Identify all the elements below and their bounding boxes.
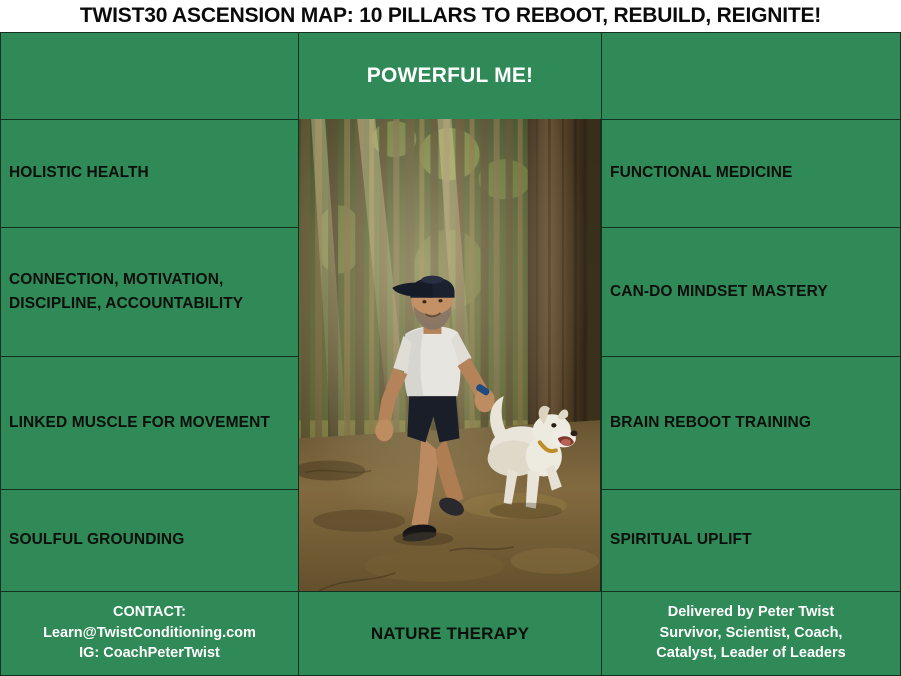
pillar-label-right-1: FUNCTIONAL MEDICINE <box>610 161 792 185</box>
contact-cell[interactable]: CONTACT: Learn@TwistConditioning.com IG:… <box>0 591 298 676</box>
pillar-wrap: FUNCTIONAL MEDICINE <box>602 120 900 227</box>
contact-heading: CONTACT: <box>113 603 186 623</box>
pillar-wrap: CAN-DO MINDSET MASTERY <box>602 228 900 356</box>
pillar-label-right-2: CAN-DO MINDSET MASTERY <box>610 280 828 304</box>
forest-trail-runner-with-dog-photo <box>298 119 601 591</box>
pillar-label-left-1: HOLISTIC HEALTH <box>9 161 149 185</box>
poster-title-bar: TWIST30 ASCENSION MAP: 10 PILLARS TO REB… <box>0 0 901 32</box>
pillar-cell-brain-reboot[interactable]: BRAIN REBOOT TRAINING <box>601 356 901 489</box>
pillar-label-left-3: LINKED MUSCLE FOR MOVEMENT <box>9 411 270 435</box>
page-title: TWIST30 ASCENSION MAP: 10 PILLARS TO REB… <box>80 4 821 28</box>
contact-instagram[interactable]: IG: CoachPeterTwist <box>79 644 220 664</box>
pillar-cell-linked-muscle[interactable]: LINKED MUSCLE FOR MOVEMENT <box>0 356 298 489</box>
pillar-label-right-4: SPIRITUAL UPLIFT <box>610 528 752 552</box>
contact-block: CONTACT: Learn@TwistConditioning.com IG:… <box>1 592 298 675</box>
center-footer-cell: NATURE THERAPY <box>298 591 601 676</box>
pillar-cell-holistic-health[interactable]: HOLISTIC HEALTH <box>0 119 298 227</box>
delivered-by-line-2: Survivor, Scientist, Coach, <box>660 624 843 644</box>
center-header-wrap: POWERFUL ME! <box>299 33 601 119</box>
pillar-cell-connection-motivation[interactable]: CONNECTION, MOTIVATION, DISCIPLINE, ACCO… <box>0 227 298 356</box>
delivered-by-line-3: Catalyst, Leader of Leaders <box>656 644 845 664</box>
forest-photo-illustration <box>299 119 600 591</box>
pillar-wrap: LINKED MUSCLE FOR MOVEMENT <box>1 357 298 489</box>
pillar-cell-spiritual-uplift[interactable]: SPIRITUAL UPLIFT <box>601 489 901 591</box>
ascension-map-poster: TWIST30 ASCENSION MAP: 10 PILLARS TO REB… <box>0 0 901 676</box>
contact-email[interactable]: Learn@TwistConditioning.com <box>43 624 256 644</box>
grid-cell-left-row1 <box>0 32 298 119</box>
nature-therapy-label: NATURE THERAPY <box>371 624 529 644</box>
delivered-by-line-1: Delivered by Peter Twist <box>668 603 835 623</box>
pillar-cell-can-do-mindset[interactable]: CAN-DO MINDSET MASTERY <box>601 227 901 356</box>
pillar-wrap: SPIRITUAL UPLIFT <box>602 490 900 591</box>
pillar-label-left-4: SOULFUL GROUNDING <box>9 528 184 552</box>
pillar-wrap: BRAIN REBOOT TRAINING <box>602 357 900 489</box>
pillar-wrap: CONNECTION, MOTIVATION, DISCIPLINE, ACCO… <box>1 228 298 356</box>
delivered-by-block: Delivered by Peter Twist Survivor, Scien… <box>602 592 900 675</box>
pillar-cell-functional-medicine[interactable]: FUNCTIONAL MEDICINE <box>601 119 901 227</box>
pillar-wrap: HOLISTIC HEALTH <box>1 120 298 227</box>
pillar-cell-soulful-grounding[interactable]: SOULFUL GROUNDING <box>0 489 298 591</box>
center-footer-wrap: NATURE THERAPY <box>299 592 601 675</box>
center-header-cell: POWERFUL ME! <box>298 32 601 119</box>
pillar-label-left-2: CONNECTION, MOTIVATION, DISCIPLINE, ACCO… <box>9 268 290 316</box>
pillar-label-right-3: BRAIN REBOOT TRAINING <box>610 411 811 435</box>
grid-cell-right-row1 <box>601 32 901 119</box>
pillar-wrap: SOULFUL GROUNDING <box>1 490 298 591</box>
delivered-by-cell: Delivered by Peter Twist Survivor, Scien… <box>601 591 901 676</box>
powerful-me-label: POWERFUL ME! <box>367 64 534 88</box>
